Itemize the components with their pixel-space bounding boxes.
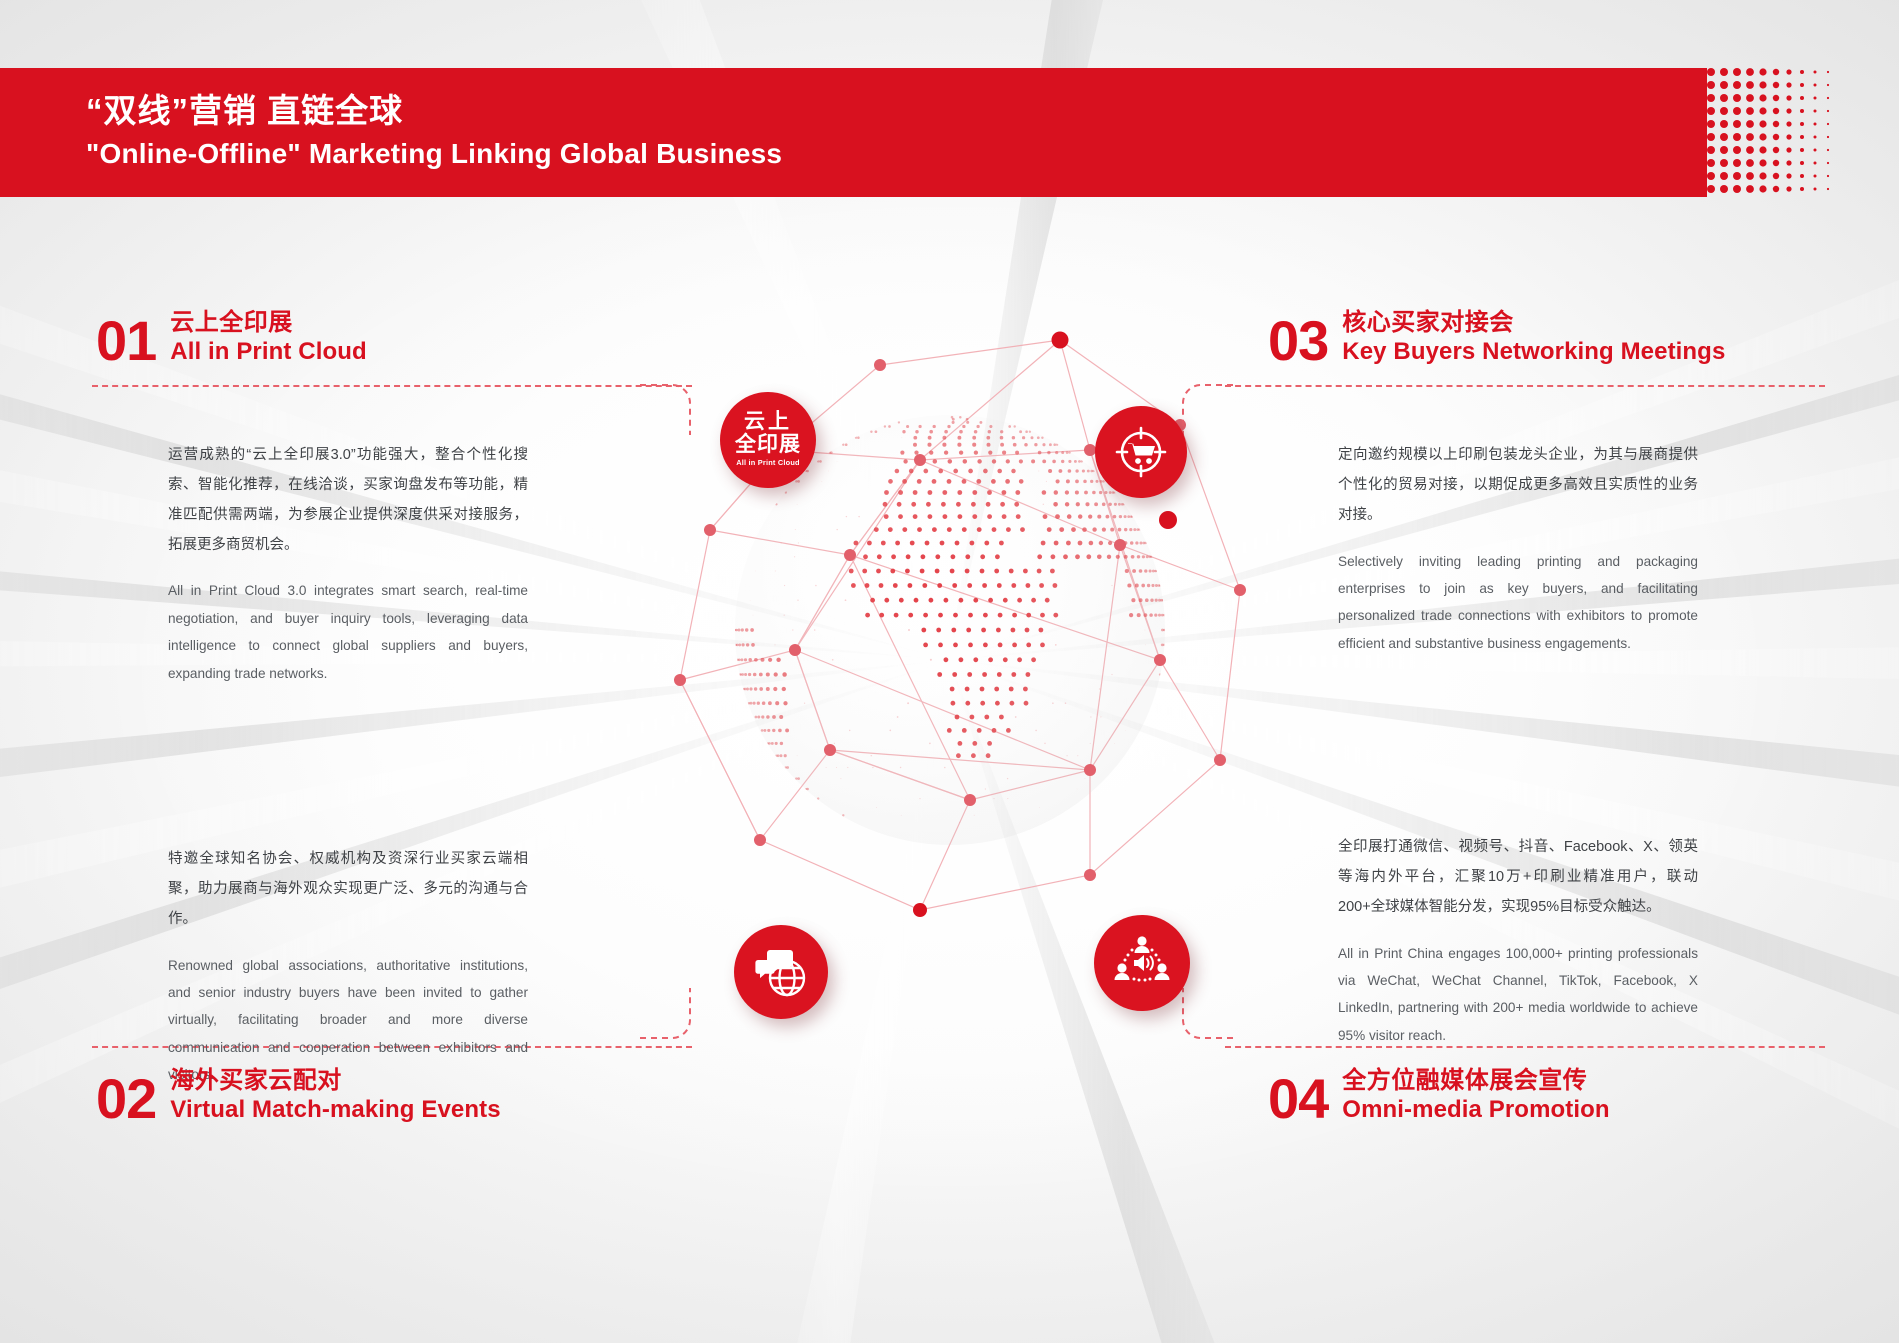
target-cart-icon[interactable]: [1095, 406, 1187, 498]
halftone-dots-decoration: [1707, 68, 1899, 197]
section-02-head-row: 02 海外买家云配对 Virtual Match-making Events: [96, 1068, 501, 1124]
section-04-titles: 全方位融媒体展会宣传 Omni-media Promotion: [1342, 1068, 1609, 1124]
divider-corner-02: [640, 988, 700, 1048]
logo-line-en: All in Print Cloud: [735, 459, 801, 466]
section-03-paragraph-cn: 定向邀约规模以上印刷包装龙头企业，为其与展商提供个性化的贸易对接，以期促成更多高…: [1338, 441, 1698, 531]
chat-globe-icon[interactable]: [734, 925, 828, 1019]
section-04-number: 04: [1268, 1074, 1328, 1123]
divider-section-03: [1225, 385, 1825, 387]
all-in-print-cloud-logo-icon[interactable]: 云上 全印展 All in Print Cloud: [720, 392, 816, 488]
section-04-copy: 全印展打通微信、视频号、抖音、Facebook、X、领英等海内外平台，汇聚10万…: [1338, 833, 1698, 1049]
section-04-head-row: 04 全方位融媒体展会宣传 Omni-media Promotion: [1268, 1068, 1610, 1124]
header-text-block: “双线”营销 直链全球 "Online-Offline" Marketing L…: [86, 90, 782, 173]
section-02-title-cn: 海外买家云配对: [170, 1068, 500, 1095]
section-01-head-row: 01 云上全印展 All in Print Cloud: [96, 310, 367, 366]
logo-line-1: 云上: [735, 411, 801, 432]
section-03-title-cn: 核心买家对接会: [1342, 310, 1725, 337]
section-01-header: 01 云上全印展 All in Print Cloud: [96, 310, 367, 366]
megaphone-network-glyph: [1112, 934, 1172, 992]
section-03-paragraph-en: Selectively inviting leading printing an…: [1338, 548, 1698, 658]
section-01-paragraph-en: All in Print Cloud 3.0 integrates smart …: [168, 577, 528, 687]
logo-text-block: 云上 全印展 All in Print Cloud: [735, 411, 801, 466]
section-01-paragraph-cn: 运营成熟的“云上全印展3.0”功能强大，整合个性化搜索、智能化推荐，在线洽谈，买…: [168, 441, 528, 560]
divider-section-01: [92, 385, 692, 387]
page-title-en: "Online-Offline" Marketing Linking Globa…: [86, 136, 782, 172]
header-banner: “双线”营销 直链全球 "Online-Offline" Marketing L…: [0, 68, 1707, 197]
megaphone-network-icon[interactable]: [1094, 915, 1190, 1011]
section-03-header: 03 核心买家对接会 Key Buyers Networking Meeting…: [1268, 310, 1725, 366]
section-03-title-en: Key Buyers Networking Meetings: [1342, 339, 1725, 366]
section-02-title-en: Virtual Match-making Events: [170, 1097, 500, 1124]
chat-globe-glyph: [752, 944, 810, 1000]
section-01-titles: 云上全印展 All in Print Cloud: [170, 310, 366, 366]
section-04-title-cn: 全方位融媒体展会宣传: [1342, 1068, 1609, 1095]
divider-corner-01: [640, 375, 700, 435]
section-03-number: 03: [1268, 316, 1328, 365]
section-02-header: 02 海外买家云配对 Virtual Match-making Events: [96, 1068, 501, 1124]
divider-corner-04: [1173, 988, 1233, 1048]
section-04-paragraph-en: All in Print China engages 100,000+ prin…: [1338, 940, 1698, 1050]
section-01-number: 01: [96, 316, 156, 365]
section-04-paragraph-cn: 全印展打通微信、视频号、抖音、Facebook、X、领英等海内外平台，汇聚10万…: [1338, 833, 1698, 923]
logo-line-2: 全印展: [735, 434, 801, 455]
section-03-copy: 定向邀约规模以上印刷包装龙头企业，为其与展商提供个性化的贸易对接，以期促成更多高…: [1338, 441, 1698, 657]
section-04-header: 04 全方位融媒体展会宣传 Omni-media Promotion: [1268, 1068, 1610, 1124]
section-02-paragraph-cn: 特邀全球知名协会、权威机构及资深行业买家云端相聚，助力展商与海外观众实现更广泛、…: [168, 845, 528, 935]
section-02-number: 02: [96, 1074, 156, 1123]
section-02-titles: 海外买家云配对 Virtual Match-making Events: [170, 1068, 500, 1124]
section-01-title-cn: 云上全印展: [170, 310, 366, 337]
section-01-copy: 运营成熟的“云上全印展3.0”功能强大，整合个性化搜索、智能化推荐，在线洽谈，买…: [168, 441, 528, 687]
target-cart-glyph: [1113, 424, 1169, 480]
section-01-title-en: All in Print Cloud: [170, 339, 366, 366]
page-title-cn: “双线”营销 直链全球: [86, 90, 782, 132]
divider-corner-03: [1173, 375, 1233, 435]
infographic-page: “双线”营销 直链全球 "Online-Offline" Marketing L…: [0, 0, 1899, 1343]
section-02-copy: 特邀全球知名协会、权威机构及资深行业买家云端相聚，助力展商与海外观众实现更广泛、…: [168, 845, 528, 1089]
section-04-title-en: Omni-media Promotion: [1342, 1097, 1609, 1124]
section-03-head-row: 03 核心买家对接会 Key Buyers Networking Meeting…: [1268, 310, 1725, 366]
section-03-titles: 核心买家对接会 Key Buyers Networking Meetings: [1342, 310, 1725, 366]
